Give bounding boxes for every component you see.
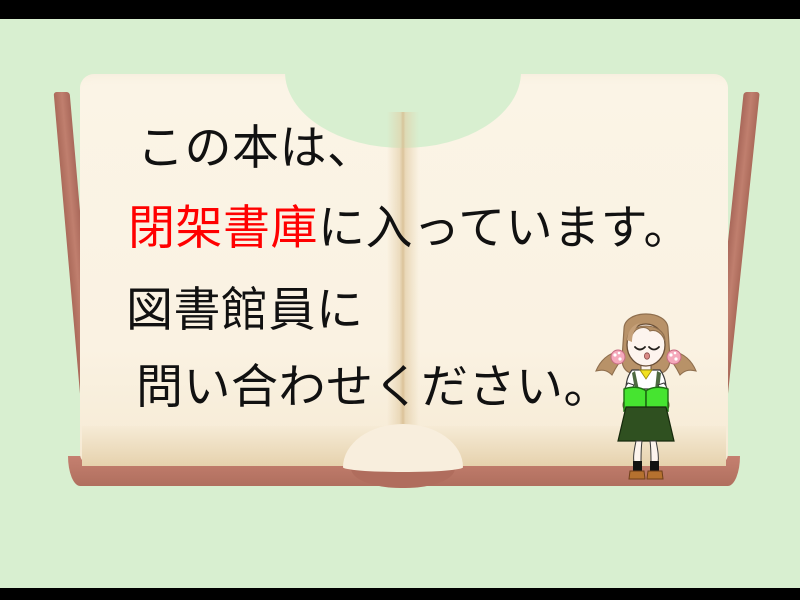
notice-line-4: 問い合わせください。: [136, 364, 611, 411]
notice-line-2: 閉架書庫に入っています。: [128, 205, 691, 252]
slide-canvas: この本は、 閉架書庫に入っています。 図書館員に 問い合わせください。: [0, 19, 800, 588]
notice-line-1: この本は、: [137, 125, 375, 172]
closed-stack-highlight: 閉架書庫: [128, 201, 318, 256]
notice-line-2-rest: に入っています。: [318, 201, 691, 256]
letterbox-top: [0, 0, 800, 19]
notice-line-3: 図書館員に: [126, 287, 364, 334]
girl-reading-illustration: [594, 295, 698, 483]
letterbox-bottom: [0, 588, 800, 600]
slide-stage: この本は、 閉架書庫に入っています。 図書館員に 問い合わせください。: [0, 0, 800, 600]
